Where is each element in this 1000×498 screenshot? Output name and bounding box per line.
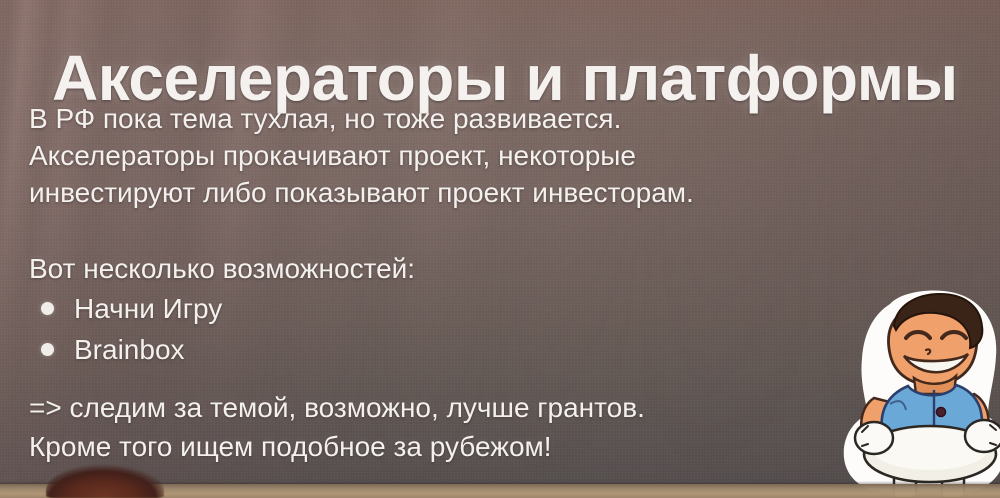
presentation-slide-photo: Акселераторы и платформы В РФ пока тема …: [0, 0, 1000, 498]
smiling-chef-with-plate-sticker: [838, 286, 1000, 498]
list-item: Начни Игру: [29, 288, 729, 329]
list-heading: Вот несколько возможностей:: [29, 250, 729, 288]
bullet-dot-icon: [41, 343, 54, 356]
list-item: Brainbox: [29, 329, 729, 370]
list-item-label: Brainbox: [74, 334, 185, 366]
paragraph-line: В РФ пока тема тухлая, но тоже развивает…: [29, 100, 929, 137]
conclusion-line: Кроме того ищем подобное за рубежом!: [29, 427, 909, 466]
slide-conclusion: => следим за темой, возможно, лучше гран…: [29, 388, 909, 466]
slide-paragraph: В РФ пока тема тухлая, но тоже развивает…: [29, 100, 929, 211]
paragraph-line: Акселераторы прокачивают проект, некотор…: [29, 137, 929, 174]
list-item-label: Начни Игру: [74, 293, 222, 325]
paragraph-line: инвестируют либо показывают проект инвес…: [29, 174, 929, 211]
bullet-dot-icon: [41, 302, 54, 315]
opportunities-list-section: Вот несколько возможностей: Начни Игру B…: [29, 250, 729, 370]
conclusion-line: => следим за темой, возможно, лучше гран…: [29, 388, 909, 427]
